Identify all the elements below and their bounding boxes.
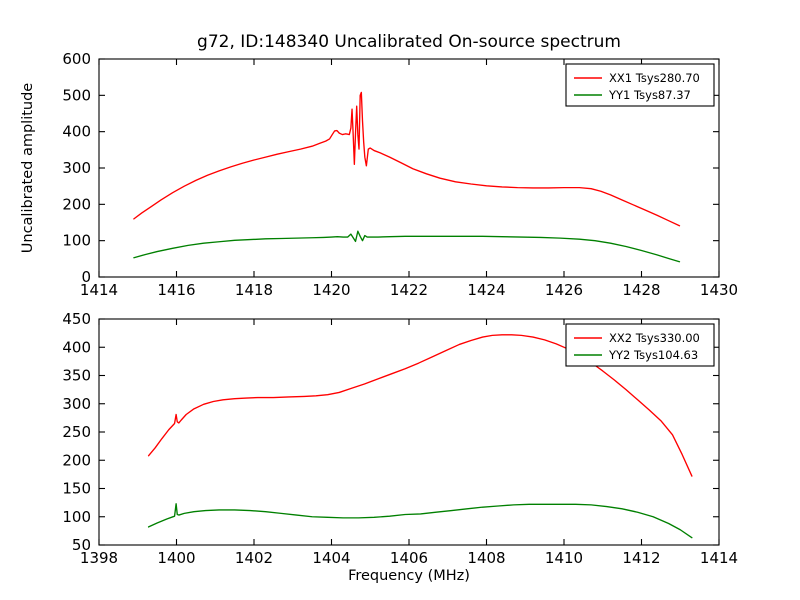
bottom-x-tick-label: 1406 xyxy=(390,549,428,567)
bottom-x-tick-label: 1402 xyxy=(235,549,273,567)
top-x-tick-label: 1426 xyxy=(545,281,583,299)
page-title: g72, ID:148340 Uncalibrated On-source sp… xyxy=(197,32,621,52)
bottom-y-tick-label: 150 xyxy=(62,480,91,498)
bottom-y-tick-label: 100 xyxy=(62,508,91,526)
bottom-y-tick-label: 200 xyxy=(62,451,91,469)
bottom-x-tick-label: 1410 xyxy=(545,549,583,567)
top-y-tick-label: 500 xyxy=(62,86,91,104)
top-x-tick-label: 1428 xyxy=(622,281,660,299)
bottom-legend-label: XX2 Tsys330.00 xyxy=(609,331,700,345)
bottom-x-tick-label: 1404 xyxy=(312,549,350,567)
bottom-x-tick-label: 1408 xyxy=(467,549,505,567)
top-x-tick-label: 1420 xyxy=(312,281,350,299)
top-panel-legend[interactable]: XX1 Tsys280.70YY1 Tsys87.37 xyxy=(566,64,714,106)
top-x-tick-label: 1424 xyxy=(467,281,505,299)
top-x-tick-label: 1430 xyxy=(700,281,738,299)
top-y-tick-label: 200 xyxy=(62,195,91,213)
bottom-x-axis-label: Frequency (MHz) xyxy=(348,568,470,584)
bottom-y-tick-label: 400 xyxy=(62,338,91,356)
top-y-tick-label: 0 xyxy=(81,268,91,286)
top-y-tick-label: 400 xyxy=(62,123,91,141)
figure-canvas: g72, ID:148340 Uncalibrated On-source sp… xyxy=(0,0,800,600)
top-y-axis-label: Uncalibrated amplitude xyxy=(20,83,36,254)
bottom-y-tick-label: 450 xyxy=(62,310,91,328)
top-x-tick-label: 1418 xyxy=(235,281,273,299)
bottom-panel-legend[interactable]: XX2 Tsys330.00YY2 Tsys104.63 xyxy=(566,324,714,366)
spectrum-plot: g72, ID:148340 Uncalibrated On-source sp… xyxy=(0,0,800,600)
bottom-x-tick-label: 1414 xyxy=(700,549,738,567)
bottom-y-tick-label: 250 xyxy=(62,423,91,441)
top-y-tick-label: 600 xyxy=(62,50,91,68)
bottom-legend-label: YY2 Tsys104.63 xyxy=(608,348,698,362)
bottom-y-tick-label: 50 xyxy=(72,536,91,554)
top-legend-label: YY1 Tsys87.37 xyxy=(608,88,691,102)
bottom-x-tick-label: 1412 xyxy=(622,549,660,567)
top-x-tick-label: 1416 xyxy=(157,281,195,299)
bottom-y-tick-label: 350 xyxy=(62,367,91,385)
top-legend-label: XX1 Tsys280.70 xyxy=(609,71,700,85)
top-y-tick-label: 100 xyxy=(62,232,91,250)
top-y-tick-label: 300 xyxy=(62,159,91,177)
top-x-tick-label: 1422 xyxy=(390,281,428,299)
bottom-y-tick-label: 300 xyxy=(62,395,91,413)
bottom-x-tick-label: 1400 xyxy=(157,549,195,567)
